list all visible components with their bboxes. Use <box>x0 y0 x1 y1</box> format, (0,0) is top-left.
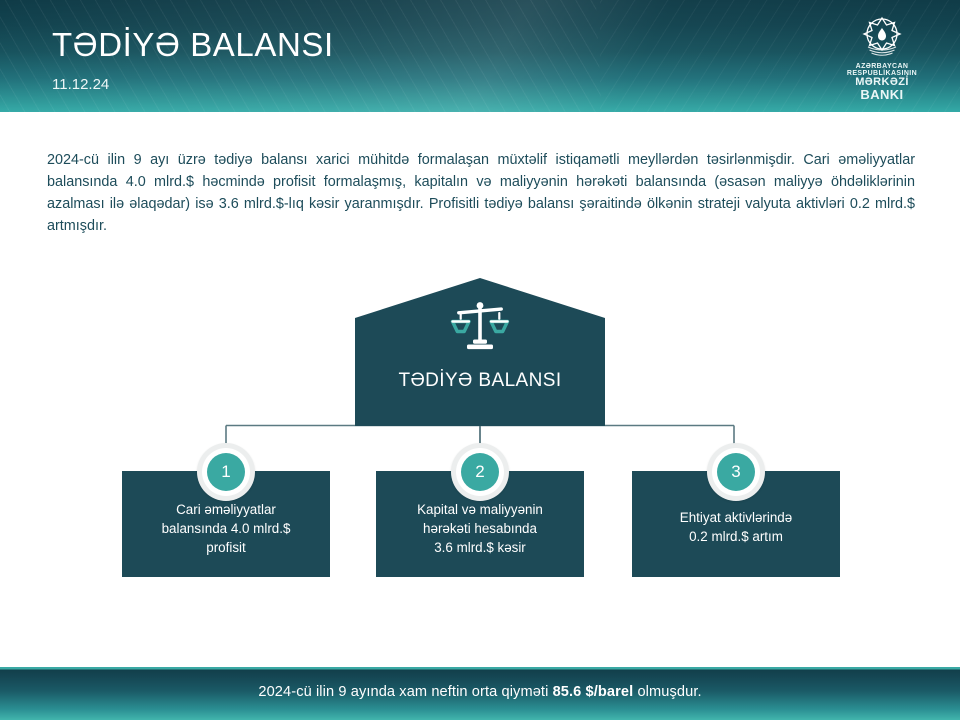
balance-scale-icon <box>449 300 511 352</box>
eight-pointed-star-flame-icon <box>857 12 907 62</box>
footer-note: 2024-cü ilin 9 ayında xam neftin orta qi… <box>0 684 960 700</box>
logo-wordmark: AZƏRBAYCAN RESPUBLİKASININ MƏRKƏZİ BANKI <box>826 63 938 102</box>
page-footer: 2024-cü ilin 9 ayında xam neftin orta qi… <box>0 667 960 720</box>
child-box-2-text: Kapital və maliyyənin hərəkəti hesabında… <box>386 500 574 557</box>
child-box-1-text: Cari əməliyyatlar balansında 4.0 mlrd.$ … <box>132 500 320 557</box>
step-badge-1: 1 <box>197 443 255 501</box>
page-header: TƏDİYƏ BALANSI 11.12.24 AZƏRBAYCAN RESPU… <box>0 0 960 112</box>
step-badge-3-number: 3 <box>717 453 755 491</box>
page-date: 11.12.24 <box>52 76 109 93</box>
footer-text-before: 2024-cü ilin 9 ayında xam neftin orta qi… <box>258 684 552 700</box>
main-node-tediye-balansi: TƏDİYƏ BALANSI <box>355 278 605 426</box>
footer-highlight-value: 85.6 $/barel <box>553 684 634 700</box>
balance-of-payments-diagram: TƏDİYƏ BALANSI Cari əməliyyatlar balansı… <box>0 260 960 600</box>
main-node-label: TƏDİYƏ BALANSI <box>355 370 605 392</box>
step-badge-3: 3 <box>707 443 765 501</box>
step-badge-2: 2 <box>451 443 509 501</box>
step-badge-1-number: 1 <box>207 453 245 491</box>
intro-paragraph: 2024-cü ilin 9 ayı üzrə tədiyə balansı x… <box>47 150 915 238</box>
footer-text-after: olmuşdur. <box>633 684 701 700</box>
child-box-3-text: Ehtiyat aktivlərində 0.2 mlrd.$ artım <box>642 508 830 546</box>
logo-line-4: BANKI <box>826 88 938 101</box>
page-title: TƏDİYƏ BALANSI <box>52 26 334 64</box>
central-bank-logo: AZƏRBAYCAN RESPUBLİKASININ MƏRKƏZİ BANKI <box>826 12 938 104</box>
step-badge-2-number: 2 <box>461 453 499 491</box>
